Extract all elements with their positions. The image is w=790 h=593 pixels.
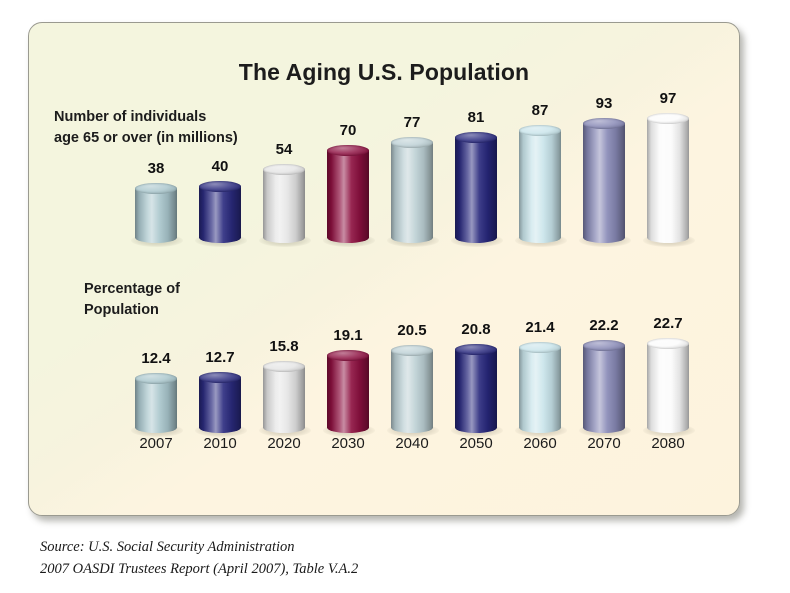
bar-cylinder bbox=[583, 118, 625, 243]
bar-group[interactable]: 54 bbox=[252, 113, 316, 243]
bar-cylinder-inner bbox=[647, 338, 689, 433]
bar-cylinder-cap bbox=[135, 183, 177, 194]
bar-group[interactable]: 20.8 bbox=[444, 303, 508, 433]
bar-cylinder-body bbox=[327, 150, 369, 238]
bar-value-label: 54 bbox=[252, 141, 316, 158]
bar-value-label: 77 bbox=[380, 114, 444, 131]
x-axis-tick-label: 2020 bbox=[252, 435, 316, 452]
bar-cylinder bbox=[647, 113, 689, 243]
bar-cylinder-body bbox=[455, 349, 497, 428]
bar-cylinder-body bbox=[263, 366, 305, 428]
bar-group[interactable]: 77 bbox=[380, 113, 444, 243]
bar-cylinder-cap bbox=[263, 361, 305, 372]
bar-cylinder-inner bbox=[455, 132, 497, 243]
x-axis-tick-label: 2007 bbox=[124, 435, 188, 452]
bar-cylinder-inner bbox=[519, 125, 561, 243]
bar-cylinder-inner bbox=[455, 344, 497, 433]
bar-cylinder bbox=[135, 373, 177, 433]
bar-cylinder bbox=[135, 183, 177, 243]
bar-group[interactable]: 87 bbox=[508, 113, 572, 243]
bar-value-label: 81 bbox=[444, 109, 508, 126]
bar-cylinder-body bbox=[391, 350, 433, 428]
bar-group[interactable]: 38 bbox=[124, 113, 188, 243]
bar-cylinder-body bbox=[647, 118, 689, 238]
x-axis-labels: 200720102020203020402050206020702080 bbox=[29, 435, 740, 465]
bar-cylinder-inner bbox=[199, 181, 241, 243]
x-axis-tick-label: 2010 bbox=[188, 435, 252, 452]
bar-value-label: 12.4 bbox=[124, 350, 188, 367]
bar-cylinder bbox=[583, 340, 625, 433]
screenshot-stage: The Aging U.S. Population Number of indi… bbox=[0, 0, 790, 593]
bar-cylinder-cap bbox=[519, 125, 561, 136]
bar-cylinder-inner bbox=[199, 372, 241, 433]
bar-cylinder-body bbox=[199, 186, 241, 238]
bar-cylinder-cap bbox=[455, 344, 497, 355]
x-axis-tick-label: 2050 bbox=[444, 435, 508, 452]
bar-cylinder bbox=[455, 132, 497, 243]
bar-cylinder-body bbox=[519, 130, 561, 238]
bar-cylinder-inner bbox=[263, 164, 305, 243]
bar-cylinder-inner bbox=[647, 113, 689, 243]
bar-cylinder-inner bbox=[263, 361, 305, 433]
bar-group[interactable]: 21.4 bbox=[508, 303, 572, 433]
bar-cylinder bbox=[199, 181, 241, 243]
x-axis-tick-label: 2040 bbox=[380, 435, 444, 452]
bar-cylinder-inner bbox=[135, 183, 177, 243]
bar-cylinder bbox=[455, 344, 497, 433]
bar-group[interactable]: 81 bbox=[444, 113, 508, 243]
bar-value-label: 40 bbox=[188, 158, 252, 175]
bar-cylinder-body bbox=[391, 142, 433, 238]
bar-value-label: 15.8 bbox=[252, 338, 316, 355]
x-axis-tick-label: 2070 bbox=[572, 435, 636, 452]
bar-value-label: 19.1 bbox=[316, 327, 380, 344]
bar-value-label: 20.8 bbox=[444, 321, 508, 338]
bar-cylinder-inner bbox=[583, 118, 625, 243]
page-title: The Aging U.S. Population bbox=[29, 59, 739, 86]
bar-cylinder-inner bbox=[327, 145, 369, 243]
bar-cylinder-cap bbox=[647, 338, 689, 349]
bar-cylinder-cap bbox=[583, 118, 625, 129]
bar-group[interactable]: 97 bbox=[636, 113, 700, 243]
bar-cylinder bbox=[327, 145, 369, 243]
bar-cylinder-cap bbox=[391, 137, 433, 148]
bar-value-label: 97 bbox=[636, 90, 700, 107]
bar-cylinder bbox=[519, 342, 561, 433]
bar-cylinder-inner bbox=[391, 345, 433, 433]
x-axis-tick-label: 2030 bbox=[316, 435, 380, 452]
bar-cylinder bbox=[519, 125, 561, 243]
bar-value-label: 12.7 bbox=[188, 349, 252, 366]
bar-cylinder-inner bbox=[519, 342, 561, 433]
bar-cylinder-cap bbox=[199, 181, 241, 192]
bar-row-counts: 384054707781879397 bbox=[29, 113, 740, 243]
bar-cylinder-body bbox=[455, 137, 497, 238]
bar-cylinder bbox=[391, 137, 433, 243]
bar-group[interactable]: 15.8 bbox=[252, 303, 316, 433]
bar-cylinder-cap bbox=[199, 372, 241, 383]
bar-value-label: 21.4 bbox=[508, 319, 572, 336]
bar-cylinder-body bbox=[583, 345, 625, 428]
bar-group[interactable]: 12.7 bbox=[188, 303, 252, 433]
bar-cylinder bbox=[199, 372, 241, 433]
bar-value-label: 93 bbox=[572, 95, 636, 112]
bar-group[interactable]: 40 bbox=[188, 113, 252, 243]
bar-cylinder-body bbox=[583, 123, 625, 238]
bar-group[interactable]: 12.4 bbox=[124, 303, 188, 433]
bar-cylinder-cap bbox=[519, 342, 561, 353]
bar-value-label: 87 bbox=[508, 102, 572, 119]
bar-group[interactable]: 20.5 bbox=[380, 303, 444, 433]
bar-cylinder bbox=[263, 361, 305, 433]
bar-value-label: 22.7 bbox=[636, 315, 700, 332]
bar-cylinder-cap bbox=[327, 350, 369, 361]
bar-value-label: 20.5 bbox=[380, 322, 444, 339]
bar-value-label: 70 bbox=[316, 122, 380, 139]
bar-cylinder bbox=[647, 338, 689, 433]
bar-cylinder bbox=[391, 345, 433, 433]
bar-cylinder-cap bbox=[263, 164, 305, 175]
bar-cylinder-cap bbox=[583, 340, 625, 351]
bar-cylinder-body bbox=[327, 355, 369, 428]
bar-group[interactable]: 70 bbox=[316, 113, 380, 243]
bar-cylinder-body bbox=[519, 347, 561, 428]
bar-group[interactable]: 22.2 bbox=[572, 303, 636, 433]
bar-cylinder-inner bbox=[391, 137, 433, 243]
bar-cylinder-body bbox=[135, 378, 177, 428]
bar-value-label: 38 bbox=[124, 160, 188, 177]
bar-group[interactable]: 93 bbox=[572, 113, 636, 243]
bar-cylinder-body bbox=[263, 169, 305, 238]
bar-cylinder-body bbox=[647, 343, 689, 428]
bar-cylinder-inner bbox=[583, 340, 625, 433]
bar-cylinder-cap bbox=[391, 345, 433, 356]
bar-cylinder-cap bbox=[327, 145, 369, 156]
bar-cylinder-cap bbox=[135, 373, 177, 384]
bar-row-percentages: 12.412.715.819.120.520.821.422.222.7 bbox=[29, 303, 740, 433]
x-axis-tick-label: 2080 bbox=[636, 435, 700, 452]
bar-cylinder bbox=[263, 164, 305, 243]
bar-cylinder-inner bbox=[327, 350, 369, 433]
bar-group[interactable]: 22.7 bbox=[636, 303, 700, 433]
bar-cylinder-cap bbox=[455, 132, 497, 143]
source-note: Source: U.S. Social Security Administrat… bbox=[40, 537, 358, 581]
bar-cylinder-cap bbox=[647, 113, 689, 124]
bar-cylinder bbox=[327, 350, 369, 433]
x-axis-tick-label: 2060 bbox=[508, 435, 572, 452]
bar-cylinder-body bbox=[199, 377, 241, 428]
bar-cylinder-inner bbox=[135, 373, 177, 433]
bar-group[interactable]: 19.1 bbox=[316, 303, 380, 433]
chart-panel: The Aging U.S. Population Number of indi… bbox=[28, 22, 740, 516]
bar-value-label: 22.2 bbox=[572, 317, 636, 334]
bar-cylinder-body bbox=[135, 188, 177, 238]
